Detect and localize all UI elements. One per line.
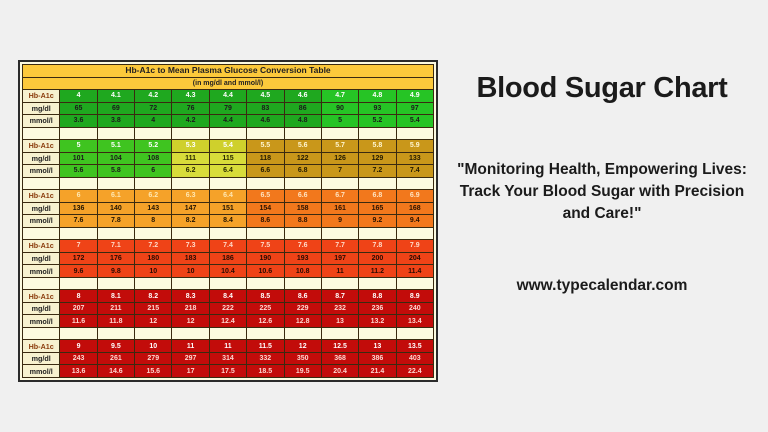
cell-mgdl: 154 <box>247 202 284 215</box>
cell-mgdl: 190 <box>247 252 284 265</box>
spacer-cell <box>247 227 284 240</box>
cell-a1c: 5.9 <box>396 140 433 153</box>
spacer-cell <box>97 277 134 290</box>
cell-a1c: 5 <box>60 140 97 153</box>
cell-mmol: 5.4 <box>396 115 433 128</box>
table-row: mmol/l7.67.888.28.48.68.899.29.4 <box>23 215 434 228</box>
cell-mgdl: 65 <box>60 102 97 115</box>
cell-mmol: 9.6 <box>60 265 97 278</box>
band-spacer <box>23 127 434 140</box>
spacer-cell <box>284 227 321 240</box>
cell-mmol: 7 <box>321 165 358 178</box>
cell-mmol: 9.2 <box>359 215 396 228</box>
spacer-cell <box>97 127 134 140</box>
cell-mgdl: 101 <box>60 152 97 165</box>
cell-mgdl: 204 <box>396 252 433 265</box>
table-row: mg/dl136140143147151154158161165168 <box>23 202 434 215</box>
cell-mmol: 10 <box>135 265 172 278</box>
spacer-cell <box>97 327 134 340</box>
band-spacer <box>23 277 434 290</box>
spacer-cell <box>209 127 246 140</box>
cell-mmol: 6.8 <box>284 165 321 178</box>
cell-mmol: 11.8 <box>97 315 134 328</box>
spacer-cell <box>60 177 97 190</box>
cell-a1c: 7.9 <box>396 240 433 253</box>
row-label-mgdl: mg/dl <box>23 252 60 265</box>
spacer-cell <box>172 227 209 240</box>
cell-mgdl: 193 <box>284 252 321 265</box>
cell-a1c: 8 <box>60 290 97 303</box>
row-label-mgdl: mg/dl <box>23 352 60 365</box>
cell-a1c: 11 <box>209 340 246 353</box>
table-row: mmol/l13.614.615.61717.518.519.520.421.4… <box>23 365 434 378</box>
cell-a1c: 4.7 <box>321 90 358 103</box>
cell-mgdl: 236 <box>359 302 396 315</box>
cell-a1c: 5.3 <box>172 140 209 153</box>
spacer-cell <box>284 277 321 290</box>
row-label-mmol: mmol/l <box>23 115 60 128</box>
table-row: mg/dl65697276798386909397 <box>23 102 434 115</box>
cell-a1c: 6.2 <box>135 190 172 203</box>
cell-mmol: 12 <box>135 315 172 328</box>
cell-a1c: 11 <box>172 340 209 353</box>
spacer-cell <box>359 227 396 240</box>
cell-a1c: 7.3 <box>172 240 209 253</box>
cell-mgdl: 225 <box>247 302 284 315</box>
spacer-cell <box>284 327 321 340</box>
row-label-a1c: Hb-A1c <box>23 340 60 353</box>
cell-a1c: 12.5 <box>321 340 358 353</box>
spacer-cell <box>23 327 60 340</box>
cell-mgdl: 97 <box>396 102 433 115</box>
row-label-mmol: mmol/l <box>23 165 60 178</box>
cell-a1c: 6.5 <box>247 190 284 203</box>
table-row: Hb-A1c99.510111111.51212.51313.5 <box>23 340 434 353</box>
cell-mgdl: 279 <box>135 352 172 365</box>
cell-a1c: 8.6 <box>284 290 321 303</box>
table-row: mg/dl101104108111115118122126129133 <box>23 152 434 165</box>
spacer-cell <box>135 327 172 340</box>
cell-mgdl: 218 <box>172 302 209 315</box>
cell-mgdl: 168 <box>396 202 433 215</box>
table-row: mmol/l3.63.844.24.44.64.855.25.4 <box>23 115 434 128</box>
row-label-mgdl: mg/dl <box>23 202 60 215</box>
cell-mmol: 18.5 <box>247 365 284 378</box>
cell-mmol: 10.8 <box>284 265 321 278</box>
cell-mgdl: 232 <box>321 302 358 315</box>
cell-a1c: 10 <box>135 340 172 353</box>
cell-a1c: 7 <box>60 240 97 253</box>
cell-mmol: 11.4 <box>396 265 433 278</box>
row-label-a1c: Hb-A1c <box>23 140 60 153</box>
cell-a1c: 6.6 <box>284 190 321 203</box>
cell-mgdl: 176 <box>97 252 134 265</box>
band-spacer <box>23 227 434 240</box>
cell-a1c: 7.2 <box>135 240 172 253</box>
cell-mgdl: 197 <box>321 252 358 265</box>
row-label-mgdl: mg/dl <box>23 152 60 165</box>
cell-mgdl: 165 <box>359 202 396 215</box>
cell-mgdl: 297 <box>172 352 209 365</box>
cell-mmol: 4.4 <box>209 115 246 128</box>
cell-mmol: 4.8 <box>284 115 321 128</box>
cell-mmol: 12.6 <box>247 315 284 328</box>
table-row: Hb-A1c88.18.28.38.48.58.68.78.88.9 <box>23 290 434 303</box>
spacer-cell <box>247 327 284 340</box>
cell-mgdl: 90 <box>321 102 358 115</box>
cell-mgdl: 350 <box>284 352 321 365</box>
cell-mmol: 12.4 <box>209 315 246 328</box>
table-row: mmol/l11.611.8121212.412.612.81313.213.4 <box>23 315 434 328</box>
cell-mmol: 6 <box>135 165 172 178</box>
cell-mmol: 9.4 <box>396 215 433 228</box>
cell-a1c: 8.4 <box>209 290 246 303</box>
table-row: mmol/l9.69.8101010.410.610.81111.211.4 <box>23 265 434 278</box>
cell-a1c: 6 <box>60 190 97 203</box>
cell-mmol: 5.8 <box>97 165 134 178</box>
cell-a1c: 8.7 <box>321 290 358 303</box>
cell-mmol: 4.2 <box>172 115 209 128</box>
spacer-cell <box>172 177 209 190</box>
cell-mmol: 11.6 <box>60 315 97 328</box>
row-label-a1c: Hb-A1c <box>23 190 60 203</box>
cell-a1c: 4 <box>60 90 97 103</box>
spacer-cell <box>247 277 284 290</box>
spacer-cell <box>359 177 396 190</box>
cell-a1c: 13 <box>359 340 396 353</box>
spacer-cell <box>321 227 358 240</box>
cell-mgdl: 172 <box>60 252 97 265</box>
cell-mmol: 19.5 <box>284 365 321 378</box>
row-label-mmol: mmol/l <box>23 315 60 328</box>
cell-mmol: 14.6 <box>97 365 134 378</box>
cell-mmol: 6.6 <box>247 165 284 178</box>
spacer-cell <box>97 227 134 240</box>
info-panel: Blood Sugar Chart "Monitoring Health, Em… <box>446 60 758 382</box>
cell-mmol: 5.2 <box>359 115 396 128</box>
cell-a1c: 7.5 <box>247 240 284 253</box>
cell-a1c: 5.2 <box>135 140 172 153</box>
cell-mmol: 9.8 <box>97 265 134 278</box>
cell-mmol: 22.4 <box>396 365 433 378</box>
spacer-cell <box>172 327 209 340</box>
cell-a1c: 4.8 <box>359 90 396 103</box>
cell-mmol: 13.4 <box>396 315 433 328</box>
cell-mmol: 3.6 <box>60 115 97 128</box>
cell-a1c: 9 <box>60 340 97 353</box>
cell-mgdl: 243 <box>60 352 97 365</box>
cell-a1c: 7.1 <box>97 240 134 253</box>
cell-mmol: 11.2 <box>359 265 396 278</box>
cell-a1c: 8.5 <box>247 290 284 303</box>
cell-mgdl: 118 <box>247 152 284 165</box>
cell-a1c: 7.7 <box>321 240 358 253</box>
table-bands: Hb-A1c44.14.24.34.44.54.64.74.84.9mg/dl6… <box>23 90 434 378</box>
cell-mmol: 10.4 <box>209 265 246 278</box>
spacer-cell <box>60 127 97 140</box>
cell-mmol: 5 <box>321 115 358 128</box>
cell-mgdl: 86 <box>284 102 321 115</box>
cell-mmol: 12.8 <box>284 315 321 328</box>
tagline-text: "Monitoring Health, Empowering Lives: Tr… <box>452 159 752 225</box>
cell-mgdl: 215 <box>135 302 172 315</box>
cell-mgdl: 69 <box>97 102 134 115</box>
cell-mgdl: 111 <box>172 152 209 165</box>
spacer-cell <box>284 177 321 190</box>
cell-a1c: 4.2 <box>135 90 172 103</box>
spacer-cell <box>321 277 358 290</box>
cell-mgdl: 126 <box>321 152 358 165</box>
cell-mgdl: 368 <box>321 352 358 365</box>
cell-a1c: 8.3 <box>172 290 209 303</box>
band-spacer <box>23 327 434 340</box>
cell-mmol: 13 <box>321 315 358 328</box>
cell-mmol: 15.6 <box>135 365 172 378</box>
cell-mgdl: 122 <box>284 152 321 165</box>
cell-a1c: 11.5 <box>247 340 284 353</box>
cell-a1c: 4.5 <box>247 90 284 103</box>
table-row: Hb-A1c66.16.26.36.46.56.66.76.86.9 <box>23 190 434 203</box>
spacer-cell <box>135 127 172 140</box>
cell-mgdl: 136 <box>60 202 97 215</box>
cell-a1c: 8.2 <box>135 290 172 303</box>
cell-mmol: 4.6 <box>247 115 284 128</box>
spacer-cell <box>396 227 433 240</box>
cell-mmol: 20.4 <box>321 365 358 378</box>
row-label-mmol: mmol/l <box>23 265 60 278</box>
spacer-cell <box>135 177 172 190</box>
cell-a1c: 8.9 <box>396 290 433 303</box>
cell-mgdl: 211 <box>97 302 134 315</box>
cell-mgdl: 133 <box>396 152 433 165</box>
cell-mgdl: 222 <box>209 302 246 315</box>
table-row: Hb-A1c55.15.25.35.45.55.65.75.85.9 <box>23 140 434 153</box>
cell-mmol: 12 <box>172 315 209 328</box>
cell-a1c: 6.4 <box>209 190 246 203</box>
cell-mmol: 8.2 <box>172 215 209 228</box>
cell-a1c: 13.5 <box>396 340 433 353</box>
cell-mgdl: 108 <box>135 152 172 165</box>
row-label-a1c: Hb-A1c <box>23 90 60 103</box>
row-label-a1c: Hb-A1c <box>23 290 60 303</box>
cell-a1c: 7.4 <box>209 240 246 253</box>
cell-mgdl: 180 <box>135 252 172 265</box>
cell-mgdl: 332 <box>247 352 284 365</box>
spacer-cell <box>321 177 358 190</box>
cell-a1c: 6.3 <box>172 190 209 203</box>
cell-mmol: 13.2 <box>359 315 396 328</box>
cell-mmol: 17 <box>172 365 209 378</box>
spacer-cell <box>135 227 172 240</box>
spacer-cell <box>172 127 209 140</box>
cell-mgdl: 314 <box>209 352 246 365</box>
cell-mmol: 4 <box>135 115 172 128</box>
cell-mmol: 5.6 <box>60 165 97 178</box>
spacer-cell <box>284 127 321 140</box>
cell-mmol: 7.2 <box>359 165 396 178</box>
spacer-cell <box>359 127 396 140</box>
conversion-table-body: Hb-A1c to Mean Plasma Glucose Conversion… <box>23 65 434 90</box>
cell-mmol: 6.4 <box>209 165 246 178</box>
cell-a1c: 5.1 <box>97 140 134 153</box>
spacer-cell <box>209 327 246 340</box>
table-row: mg/dl207211215218222225229232236240 <box>23 302 434 315</box>
table-row: Hb-A1c77.17.27.37.47.57.67.77.87.9 <box>23 240 434 253</box>
cell-mgdl: 261 <box>97 352 134 365</box>
band-spacer <box>23 177 434 190</box>
spacer-cell <box>135 277 172 290</box>
cell-mgdl: 183 <box>172 252 209 265</box>
cell-a1c: 12 <box>284 340 321 353</box>
spacer-cell <box>396 177 433 190</box>
spacer-cell <box>396 277 433 290</box>
cell-a1c: 6.9 <box>396 190 433 203</box>
cell-mgdl: 200 <box>359 252 396 265</box>
cell-mgdl: 161 <box>321 202 358 215</box>
cell-mgdl: 93 <box>359 102 396 115</box>
table-row: mg/dl243261279297314332350368386403 <box>23 352 434 365</box>
cell-mmol: 11 <box>321 265 358 278</box>
spacer-cell <box>23 127 60 140</box>
table-row: mg/dl172176180183186190193197200204 <box>23 252 434 265</box>
cell-a1c: 7.8 <box>359 240 396 253</box>
spacer-cell <box>209 277 246 290</box>
table-subtitle: (in mg/dl and mmol/l) <box>23 77 434 90</box>
table-row: mmol/l5.65.866.26.46.66.877.27.4 <box>23 165 434 178</box>
row-label-a1c: Hb-A1c <box>23 240 60 253</box>
cell-a1c: 5.8 <box>359 140 396 153</box>
cell-mgdl: 143 <box>135 202 172 215</box>
cell-a1c: 6.8 <box>359 190 396 203</box>
cell-mmol: 17.5 <box>209 365 246 378</box>
cell-mmol: 13.6 <box>60 365 97 378</box>
cell-mgdl: 229 <box>284 302 321 315</box>
spacer-cell <box>396 127 433 140</box>
cell-mmol: 7.4 <box>396 165 433 178</box>
cell-a1c: 4.1 <box>97 90 134 103</box>
cell-mgdl: 207 <box>60 302 97 315</box>
cell-a1c: 5.6 <box>284 140 321 153</box>
cell-mgdl: 76 <box>172 102 209 115</box>
table-title-row: Hb-A1c to Mean Plasma Glucose Conversion… <box>23 65 434 78</box>
cell-mmol: 21.4 <box>359 365 396 378</box>
cell-a1c: 4.9 <box>396 90 433 103</box>
conversion-table-card: Hb-A1c to Mean Plasma Glucose Conversion… <box>18 60 438 382</box>
page-title: Blood Sugar Chart <box>476 72 727 105</box>
cell-mmol: 8 <box>135 215 172 228</box>
cell-mgdl: 140 <box>97 202 134 215</box>
cell-mmol: 8.4 <box>209 215 246 228</box>
spacer-cell <box>321 327 358 340</box>
cell-mmol: 10 <box>172 265 209 278</box>
cell-mgdl: 129 <box>359 152 396 165</box>
cell-a1c: 6.7 <box>321 190 358 203</box>
cell-mmol: 8.6 <box>247 215 284 228</box>
cell-mmol: 7.6 <box>60 215 97 228</box>
cell-a1c: 7.6 <box>284 240 321 253</box>
cell-a1c: 4.4 <box>209 90 246 103</box>
cell-a1c: 8.8 <box>359 290 396 303</box>
cell-mgdl: 147 <box>172 202 209 215</box>
cell-mmol: 6.2 <box>172 165 209 178</box>
table-title: Hb-A1c to Mean Plasma Glucose Conversion… <box>23 65 434 78</box>
spacer-cell <box>172 277 209 290</box>
cell-mgdl: 79 <box>209 102 246 115</box>
row-label-mgdl: mg/dl <box>23 302 60 315</box>
cell-mgdl: 151 <box>209 202 246 215</box>
cell-mmol: 9 <box>321 215 358 228</box>
cell-mgdl: 104 <box>97 152 134 165</box>
cell-a1c: 4.3 <box>172 90 209 103</box>
table-subtitle-row: (in mg/dl and mmol/l) <box>23 77 434 90</box>
cell-a1c: 9.5 <box>97 340 134 353</box>
row-label-mmol: mmol/l <box>23 365 60 378</box>
cell-mgdl: 240 <box>396 302 433 315</box>
cell-mmol: 8.8 <box>284 215 321 228</box>
cell-a1c: 5.7 <box>321 140 358 153</box>
spacer-cell <box>23 177 60 190</box>
spacer-cell <box>321 127 358 140</box>
cell-mgdl: 403 <box>396 352 433 365</box>
spacer-cell <box>359 327 396 340</box>
row-label-mgdl: mg/dl <box>23 102 60 115</box>
cell-a1c: 5.5 <box>247 140 284 153</box>
cell-mmol: 3.8 <box>97 115 134 128</box>
spacer-cell <box>60 227 97 240</box>
spacer-cell <box>60 327 97 340</box>
spacer-cell <box>209 177 246 190</box>
row-label-mmol: mmol/l <box>23 215 60 228</box>
spacer-cell <box>23 277 60 290</box>
cell-mgdl: 72 <box>135 102 172 115</box>
cell-mgdl: 186 <box>209 252 246 265</box>
spacer-cell <box>60 277 97 290</box>
website-link[interactable]: www.typecalendar.com <box>517 277 688 295</box>
spacer-cell <box>247 177 284 190</box>
cell-mmol: 7.8 <box>97 215 134 228</box>
cell-mgdl: 83 <box>247 102 284 115</box>
cell-a1c: 4.6 <box>284 90 321 103</box>
spacer-cell <box>209 227 246 240</box>
cell-mgdl: 158 <box>284 202 321 215</box>
cell-a1c: 6.1 <box>97 190 134 203</box>
spacer-cell <box>396 327 433 340</box>
spacer-cell <box>97 177 134 190</box>
cell-mgdl: 386 <box>359 352 396 365</box>
cell-a1c: 8.1 <box>97 290 134 303</box>
conversion-table: Hb-A1c to Mean Plasma Glucose Conversion… <box>22 64 434 378</box>
cell-a1c: 5.4 <box>209 140 246 153</box>
table-row: Hb-A1c44.14.24.34.44.54.64.74.84.9 <box>23 90 434 103</box>
cell-mmol: 10.6 <box>247 265 284 278</box>
blood-sugar-chart-page: Hb-A1c to Mean Plasma Glucose Conversion… <box>0 0 768 432</box>
spacer-cell <box>247 127 284 140</box>
cell-mgdl: 115 <box>209 152 246 165</box>
spacer-cell <box>23 227 60 240</box>
spacer-cell <box>359 277 396 290</box>
